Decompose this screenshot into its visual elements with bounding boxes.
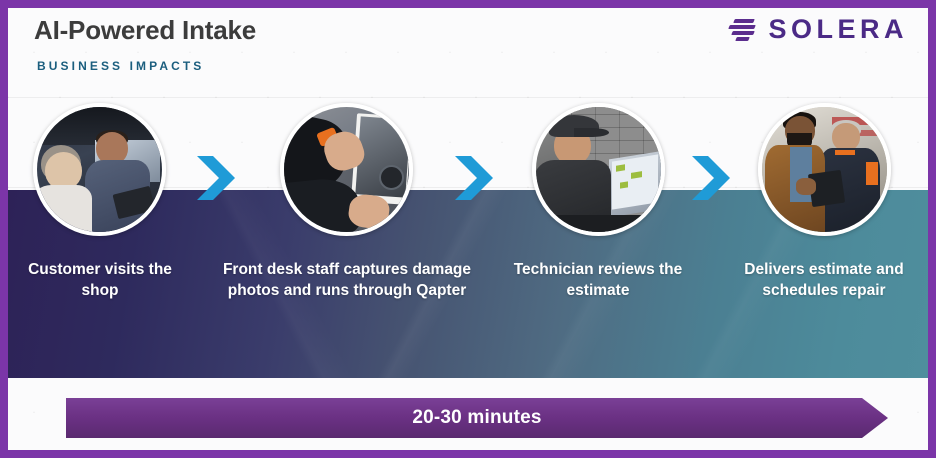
slide: AI-Powered Intake BUSINESS IMPACTS SOLER…	[0, 0, 936, 458]
slide-header: AI-Powered Intake BUSINESS IMPACTS SOLER…	[8, 8, 928, 92]
solera-logo: SOLERA	[727, 16, 908, 43]
step-2-caption: Front desk staff captures damage photos …	[212, 260, 482, 301]
duration-banner-shape: 20-30 minutes	[66, 398, 888, 438]
page-subtitle: BUSINESS IMPACTS	[37, 59, 204, 73]
page-title: AI-Powered Intake	[34, 15, 256, 46]
step-3: Technician reviews the estimate	[530, 103, 667, 301]
chevron-right-icon	[451, 154, 497, 202]
chevron-right-icon	[193, 154, 239, 202]
duration-label: 20-30 minutes	[412, 407, 541, 429]
step-4-caption: Delivers estimate and schedules repair	[724, 260, 924, 301]
solera-stacked-bars-icon	[727, 17, 757, 43]
step-2: Front desk staff captures damage photos …	[278, 103, 415, 301]
step-3-photo	[532, 103, 665, 236]
step-4-photo	[758, 103, 891, 236]
step-1-caption: Customer visits the shop	[10, 260, 190, 301]
step-4: Delivers estimate and schedules repair	[756, 103, 893, 301]
brand-name: SOLERA	[768, 16, 908, 43]
chevron-right-icon	[688, 154, 734, 202]
step-1: Customer visits the shop	[31, 103, 168, 301]
duration-banner: 20-30 minutes	[66, 398, 888, 438]
step-2-photo	[280, 103, 413, 236]
step-1-photo	[33, 103, 166, 236]
step-3-caption: Technician reviews the estimate	[503, 260, 693, 301]
